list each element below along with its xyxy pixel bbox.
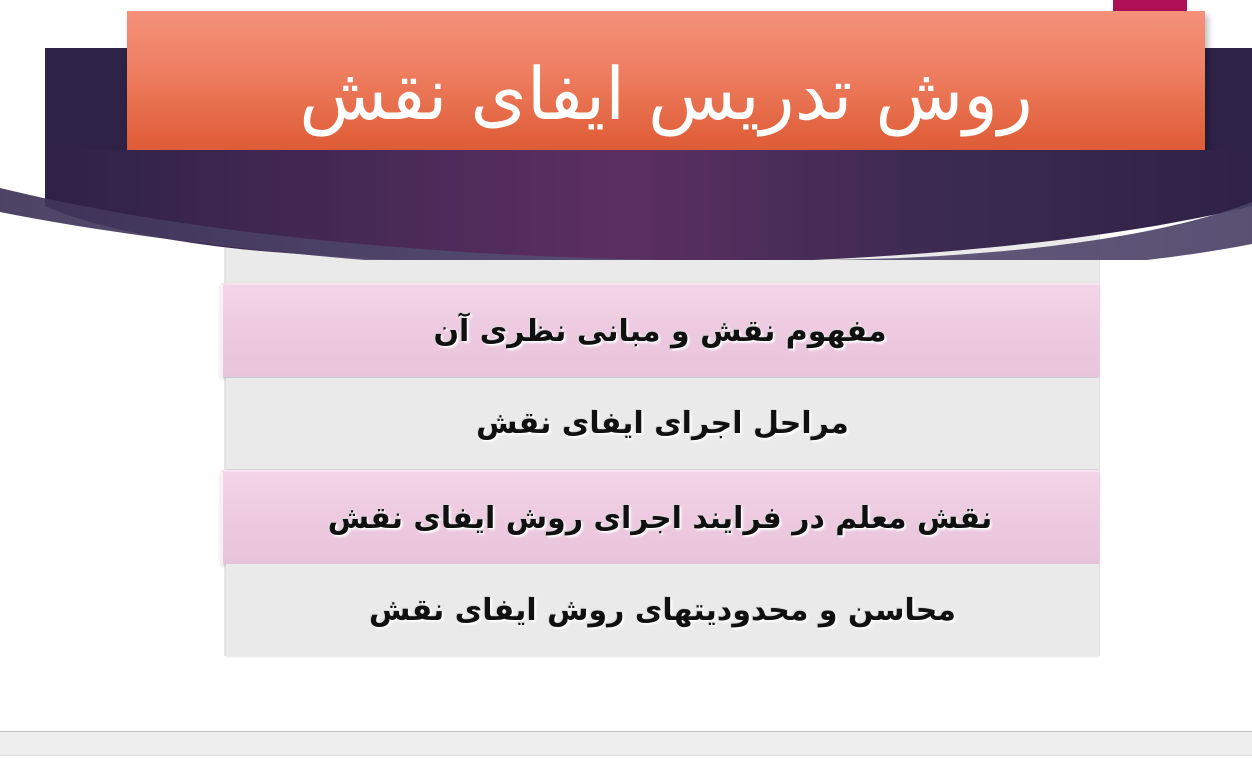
list-item[interactable]: نقش معلم در فرایند اجرای روش ایفای نقش bbox=[221, 470, 1099, 564]
list-item-label: محاسن و محدودیتهای روش ایفای نقش bbox=[369, 593, 956, 628]
page-title: روش تدریس ایفای نقش bbox=[299, 55, 1033, 140]
list-item-label: مفهوم نقش و مبانی نظری آن bbox=[433, 314, 886, 349]
list-item[interactable]: مراحل اجرای ایفای نقش bbox=[226, 378, 1099, 469]
list-item-label: روش ایفای نقش bbox=[535, 222, 790, 257]
page-gutter bbox=[0, 731, 1252, 758]
list-item-label: مراحل اجرای ایفای نقش bbox=[476, 406, 849, 441]
list-item[interactable]: مفهوم نقش و مبانی نظری آن bbox=[221, 283, 1099, 377]
slide-title-box: روش تدریس ایفای نقش bbox=[127, 11, 1205, 185]
list-item[interactable]: محاسن و محدودیتهای روش ایفای نقش bbox=[226, 564, 1099, 656]
list-item[interactable]: روش ایفای نقش bbox=[226, 196, 1099, 283]
slide-root: روش ایفای نقش مفهوم نقش و مبانی نظری آن … bbox=[0, 0, 1252, 758]
slide-page: روش ایفای نقش مفهوم نقش و مبانی نظری آن … bbox=[0, 0, 1252, 731]
list-item-label: نقش معلم در فرایند اجرای روش ایفای نقش bbox=[328, 501, 993, 536]
